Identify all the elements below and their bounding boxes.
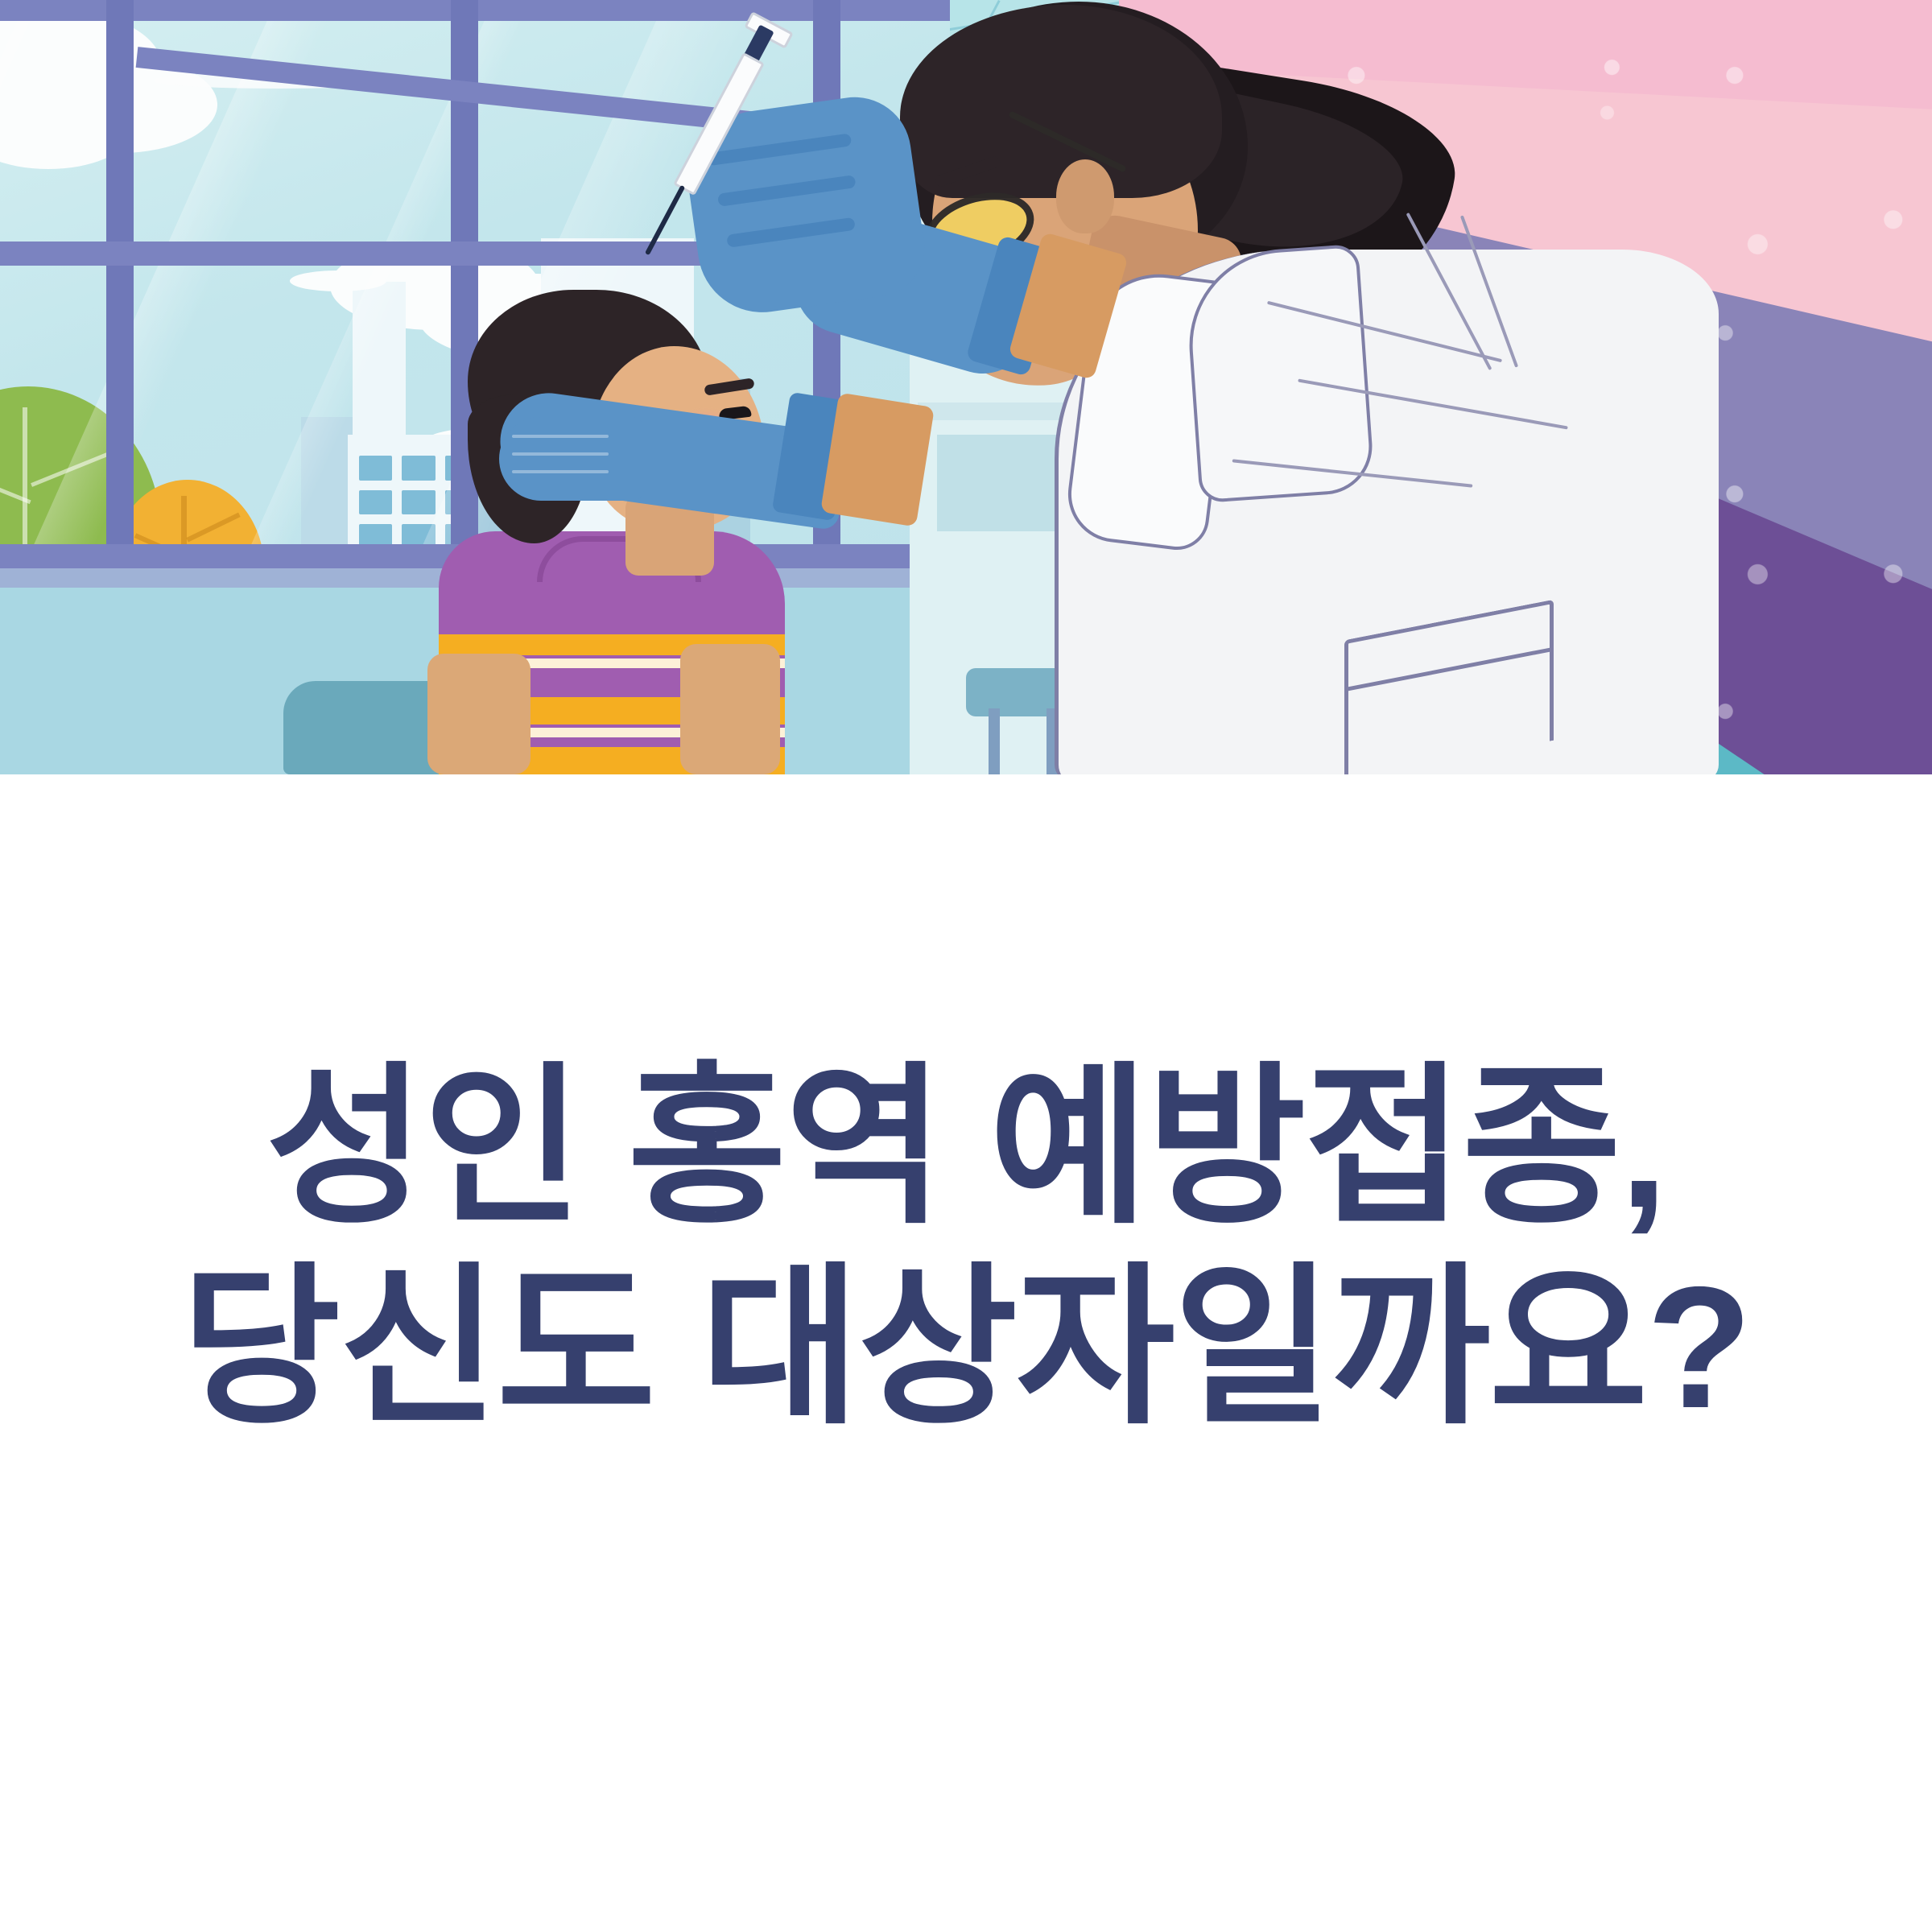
glove-fingers (499, 417, 644, 501)
doctor (813, 0, 1723, 774)
doctor-ear (1056, 159, 1114, 233)
child-arm (427, 654, 530, 774)
window-frame-vertical (106, 0, 134, 565)
doctor-forearm-skin (820, 393, 935, 527)
hero-illustration (0, 0, 1932, 774)
poster-card: 성인 홍역 예방접종, 당신도 대상자일까요? (0, 0, 1932, 1932)
child-patient (439, 290, 785, 774)
title-block: 성인 홍역 예방접종, 당신도 대상자일까요? (0, 1046, 1932, 1448)
title-line-1: 성인 홍역 예방접종, (0, 1046, 1932, 1247)
child-arm (680, 644, 780, 774)
title-line-2: 당신도 대상자일까요? (0, 1247, 1932, 1447)
